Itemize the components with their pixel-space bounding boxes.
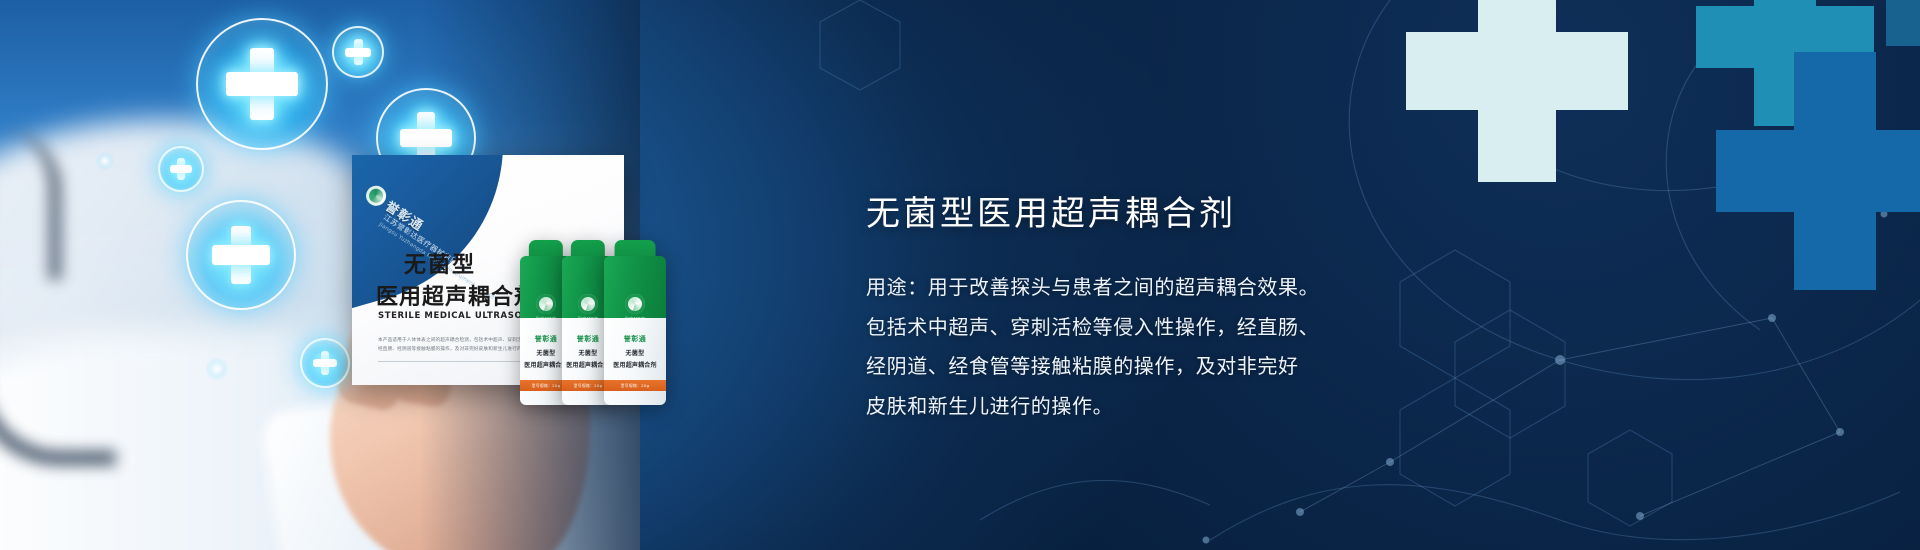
glowing-cross-bubble-tiny xyxy=(332,26,384,78)
box-title-line2: 医用超声耦合剂 xyxy=(376,279,537,311)
sachet-brand: 誉彰通 xyxy=(535,334,558,344)
sachet-line1: 无菌型 xyxy=(626,348,645,357)
light-dot xyxy=(206,358,228,380)
description-line: 皮肤和新生儿进行的操作。 xyxy=(866,390,1566,422)
medical-cross-icon xyxy=(313,351,337,375)
description-line: 经阴道、经食管等接触粘膜的操作，及对非完好 xyxy=(866,350,1566,382)
spiral-logo-icon xyxy=(578,294,598,314)
sachet-brand: 誉彰通 xyxy=(624,334,647,344)
box-title-line1: 无菌型 xyxy=(404,247,476,279)
banner-description: 用途：用于改善探头与患者之间的超声耦合效果。 包括术中超声、穿刺活检等侵入性操作… xyxy=(866,271,1566,422)
banner-headline: 无菌型医用超声耦合剂 xyxy=(866,196,1566,233)
product-hero-banner: 誉彰通 江苏誉彰达医疗器械有限公司 Jiangsu Yuzhangda Medi… xyxy=(0,0,1920,550)
light-dot xyxy=(96,152,114,170)
medical-cross-icon xyxy=(212,226,270,284)
cross-icon-teal xyxy=(1696,0,1874,126)
spiral-logo-icon xyxy=(536,294,556,314)
sachet-band-text: 型号规格：20g xyxy=(621,383,650,389)
sachet-brand: 誉彰通 xyxy=(577,334,600,344)
glowing-cross-bubble-bottom xyxy=(300,338,350,388)
description-line: 包括术中超声、穿刺活检等侵入性操作，经直肠、 xyxy=(866,311,1566,343)
sachet-band-text: 型号规格：20g xyxy=(574,383,603,389)
spiral-logo-icon xyxy=(625,294,645,314)
cross-icon-blue-small xyxy=(1886,0,1920,46)
sachet-orange-band: 型号规格：20g xyxy=(604,380,666,391)
sachet-line1: 无菌型 xyxy=(579,348,598,357)
sachet-item: Yuzhangda 誉彰通 无菌型 医用超声耦合剂 型号规格：20g xyxy=(604,240,666,405)
sachet-green-top: Yuzhangda xyxy=(604,256,666,320)
medical-cross-icon xyxy=(345,39,371,65)
cross-icon-mint xyxy=(1406,0,1628,182)
banner-text-block: 无菌型医用超声耦合剂 用途：用于改善探头与患者之间的超声耦合效果。 包括术中超声… xyxy=(866,196,1566,429)
glowing-cross-bubble-small xyxy=(158,146,204,192)
glowing-cross-bubble-large xyxy=(196,18,328,150)
description-line: 用途：用于改善探头与患者之间的超声耦合效果。 xyxy=(866,271,1566,303)
sachet-line2: 医用超声耦合剂 xyxy=(613,360,656,369)
glowing-cross-bubble-lower xyxy=(186,200,296,310)
sachet-line1: 无菌型 xyxy=(537,348,556,357)
sachet-group: Yuzhangda 誉彰通 无菌型 医用超声耦合剂 型号规格：20g Yuzha… xyxy=(520,240,680,405)
medical-cross-icon xyxy=(226,48,298,120)
sachet-band-text: 型号规格：20g xyxy=(532,383,561,389)
medical-cross-icon xyxy=(170,158,192,180)
cross-icon-blue-large xyxy=(1716,52,1920,290)
